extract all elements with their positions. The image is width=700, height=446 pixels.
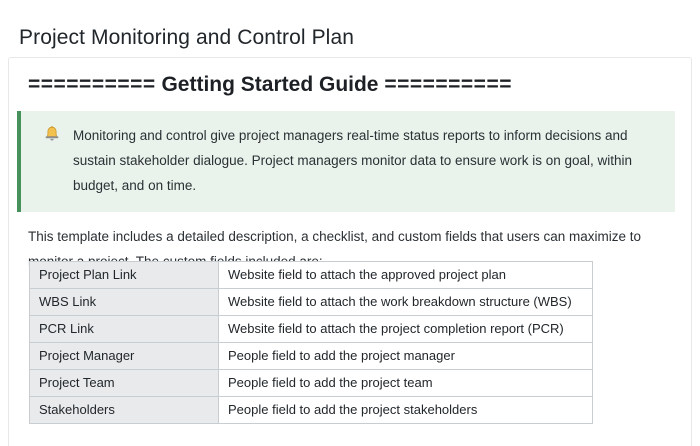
- table-row: Stakeholders People field to add the pro…: [30, 397, 593, 424]
- field-name-cell: Project Manager: [30, 343, 219, 370]
- callout-text: Monitoring and control give project mana…: [73, 123, 661, 198]
- heading-title-text: Getting Started Guide: [156, 73, 385, 96]
- document-card: ========== Getting Started Guide =======…: [8, 57, 692, 446]
- field-name-cell: Project Plan Link: [30, 262, 219, 289]
- field-description-cell: People field to add the project manager: [219, 343, 593, 370]
- field-description-cell: People field to add the project team: [219, 370, 593, 397]
- field-name-cell: Stakeholders: [30, 397, 219, 424]
- field-description-cell: People field to add the project stakehol…: [219, 397, 593, 424]
- table-row: Project Team People field to add the pro…: [30, 370, 593, 397]
- bell-icon: [43, 125, 61, 143]
- info-callout: Monitoring and control give project mana…: [17, 111, 675, 212]
- custom-fields-table: Project Plan Link Website field to attac…: [29, 261, 593, 424]
- field-name-cell: PCR Link: [30, 316, 219, 343]
- heading-equals-right: ==========: [384, 73, 512, 96]
- table-row: Project Manager People field to add the …: [30, 343, 593, 370]
- getting-started-heading: ========== Getting Started Guide =======…: [28, 73, 512, 97]
- heading-equals-left: ==========: [28, 73, 156, 96]
- field-name-cell: Project Team: [30, 370, 219, 397]
- table-row: PCR Link Website field to attach the pro…: [30, 316, 593, 343]
- field-name-cell: WBS Link: [30, 289, 219, 316]
- field-description-cell: Website field to attach the work breakdo…: [219, 289, 593, 316]
- table-row: Project Plan Link Website field to attac…: [30, 262, 593, 289]
- field-description-cell: Website field to attach the project comp…: [219, 316, 593, 343]
- table-row: WBS Link Website field to attach the wor…: [30, 289, 593, 316]
- table-body: Project Plan Link Website field to attac…: [30, 262, 593, 424]
- page-title: Project Monitoring and Control Plan: [19, 24, 354, 52]
- field-description-cell: Website field to attach the approved pro…: [219, 262, 593, 289]
